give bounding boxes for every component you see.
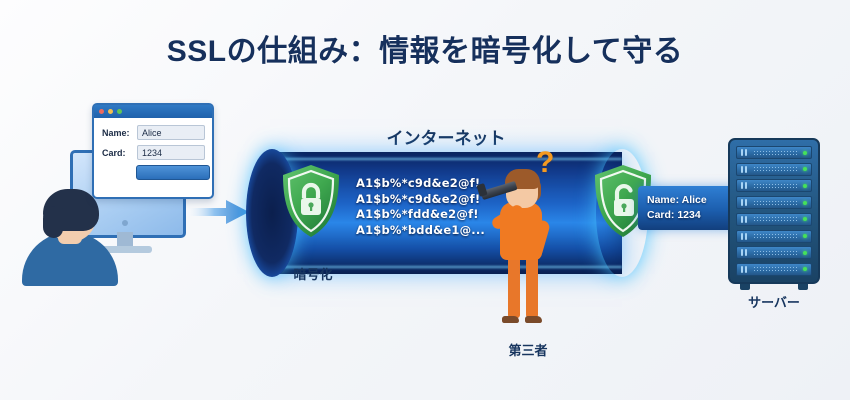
ssl-diagram-slide: SSLの仕組み：情報を暗号化して守る Name: Alice Card: 123… [0, 0, 850, 400]
ciphertext-block: A1$b%*c9d&e2@f! A1$b%*c9d&e2@f! A1$b%*fd… [356, 176, 485, 238]
tunnel-glow-top [270, 158, 622, 160]
slot-led [803, 184, 807, 188]
slot-handle [741, 233, 747, 240]
server-foot-left [740, 284, 750, 290]
server-slot [736, 230, 812, 243]
slot-vents [753, 200, 799, 206]
slot-vents [753, 150, 799, 156]
slot-led [803, 151, 807, 155]
name-field-label: Name: [102, 128, 137, 138]
slot-led [803, 167, 807, 171]
attacker-label: 第三者 [473, 340, 583, 359]
server-foot-right [798, 284, 808, 290]
server-slot [736, 196, 812, 209]
browser-form: Name: Alice Card: 1234 [94, 118, 212, 185]
slot-vents [753, 183, 799, 189]
browser-window: Name: Alice Card: 1234 [92, 103, 214, 199]
slot-led [803, 201, 807, 205]
minimize-dot[interactable] [108, 109, 113, 114]
shield-closed-lock-icon [280, 163, 342, 239]
form-row-card: Card: 1234 [102, 145, 205, 160]
submit-button[interactable] [136, 165, 210, 180]
monitor-led [122, 220, 128, 226]
slot-handle [741, 199, 747, 206]
spy-leg-left [508, 256, 520, 318]
spy-leg-right [526, 256, 538, 318]
person-back-icon [22, 192, 118, 282]
person-telescope-icon: ? [480, 158, 566, 333]
encrypt-label: 暗号化 [278, 264, 348, 283]
form-row-name: Name: Alice [102, 125, 205, 140]
cipher-line: A1$b%*bdd&e1@... [356, 223, 485, 239]
server-slot [736, 163, 812, 176]
slot-handle [741, 166, 747, 173]
slot-handle [741, 216, 747, 223]
close-dot[interactable] [99, 109, 104, 114]
server-slot [736, 146, 812, 159]
cipher-line: A1$b%*fdd&e2@f! [356, 207, 485, 223]
arrow-right-icon [186, 198, 250, 226]
question-mark-icon: ? [536, 146, 554, 180]
slot-handle [741, 266, 747, 273]
slot-led [803, 217, 807, 221]
server-slot [736, 213, 812, 226]
slot-led [803, 234, 807, 238]
server-slot [736, 246, 812, 259]
slot-led [803, 267, 807, 271]
card-field-input[interactable]: 1234 [137, 145, 205, 160]
internet-label: インターネット [246, 124, 646, 149]
slot-vents [753, 216, 799, 222]
maximize-dot[interactable] [117, 109, 122, 114]
slot-vents [753, 266, 799, 272]
user-hair-side [43, 206, 63, 238]
slot-led [803, 251, 807, 255]
server-slot [736, 179, 812, 192]
server-label: サーバー [722, 292, 826, 311]
slot-handle [741, 149, 747, 156]
cipher-line: A1$b%*c9d&e2@f! [356, 192, 485, 208]
slot-handle [741, 249, 747, 256]
page-title: SSLの仕組み：情報を暗号化して守る [0, 26, 850, 70]
slot-vents [753, 166, 799, 172]
spy-shoe-right [525, 316, 542, 323]
slot-handle [741, 182, 747, 189]
spy-shoe-left [502, 316, 519, 323]
card-field-label: Card: [102, 148, 137, 158]
server-slot [736, 263, 812, 276]
slot-vents [753, 233, 799, 239]
slot-vents [753, 250, 799, 256]
name-field-input[interactable]: Alice [137, 125, 205, 140]
browser-titlebar [94, 105, 212, 118]
server-rack-icon [728, 138, 820, 290]
server-case [728, 138, 820, 284]
cipher-line: A1$b%*c9d&e2@f! [356, 176, 485, 192]
